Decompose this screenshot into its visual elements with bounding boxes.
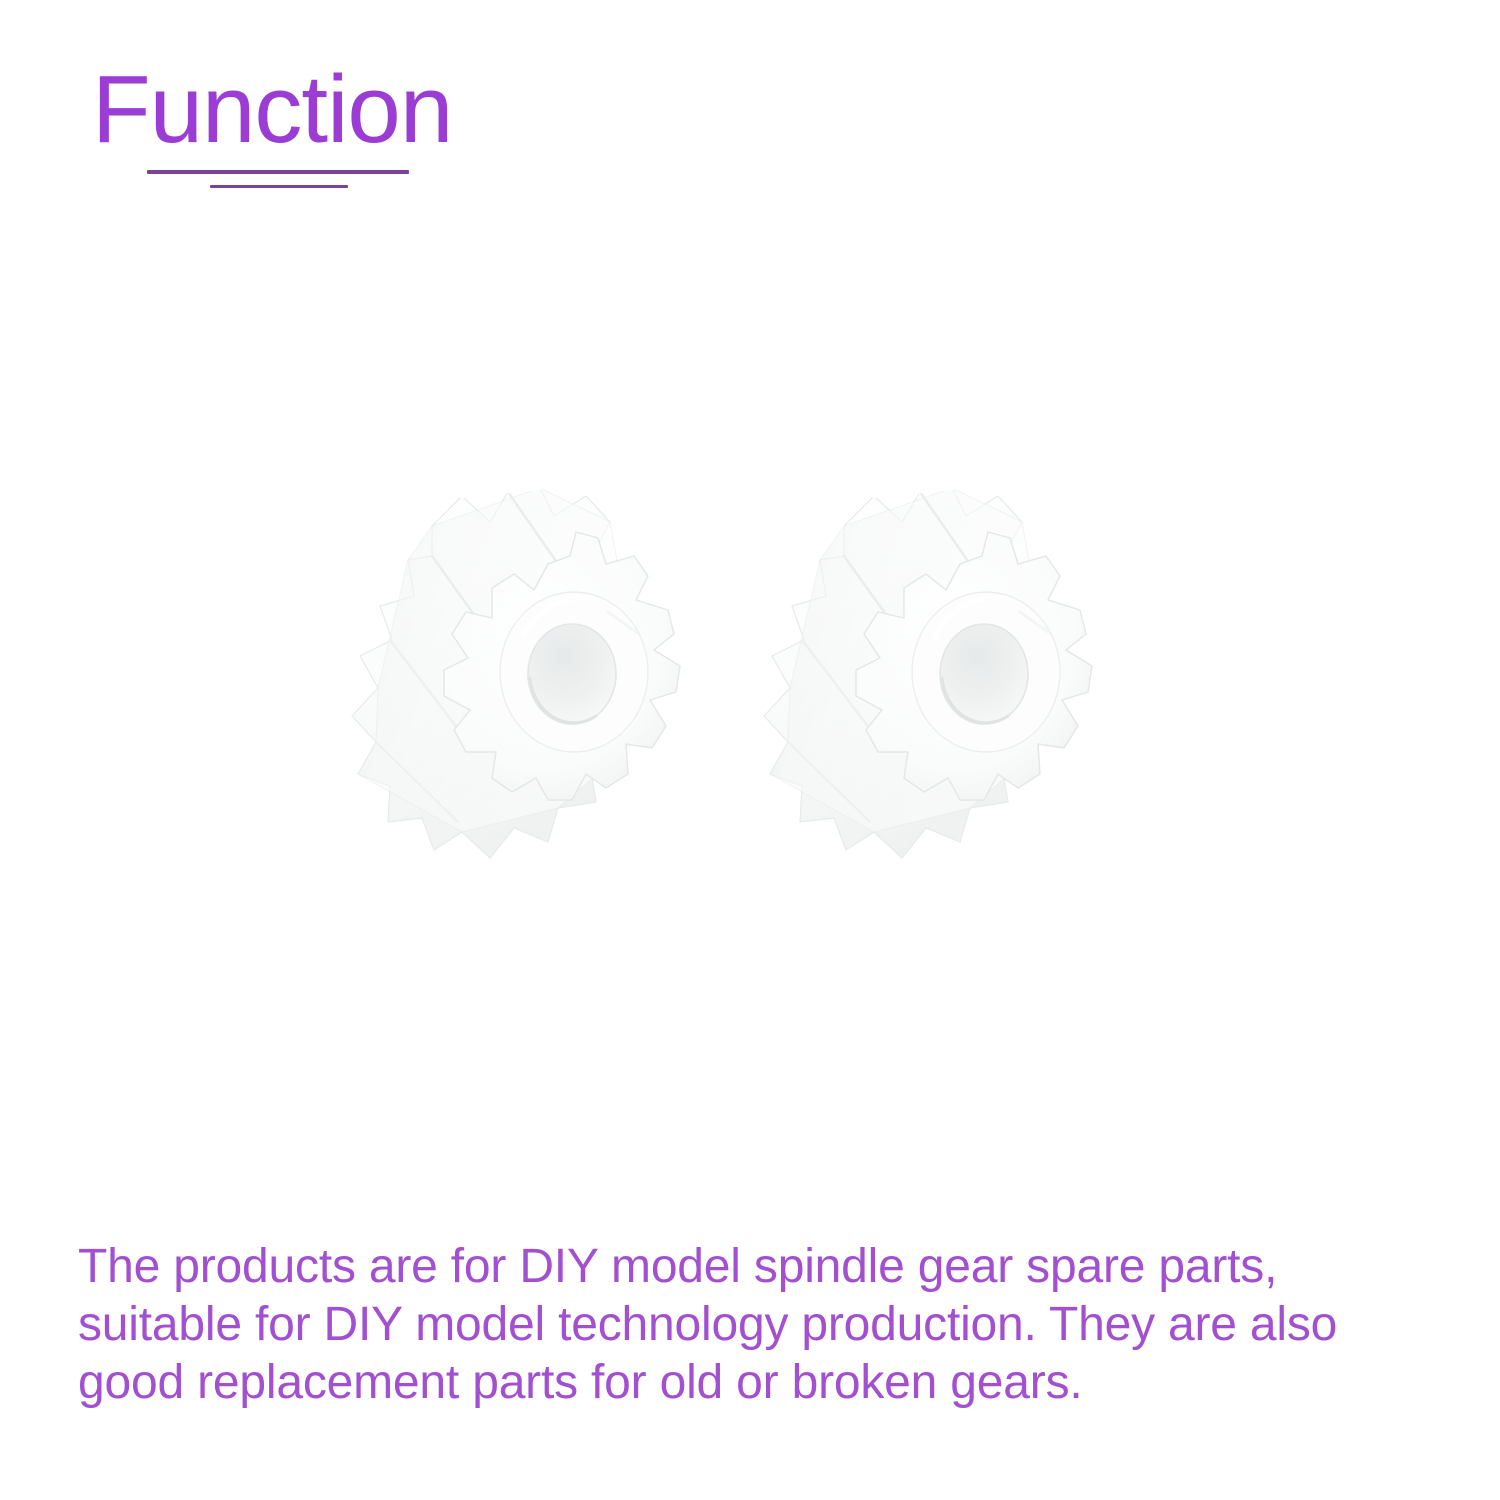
description-block: The products are for DIY model spindle g… bbox=[78, 1238, 1448, 1412]
product-image-area bbox=[0, 430, 1500, 970]
gear-center-bore bbox=[940, 624, 1028, 724]
gear-center-bore bbox=[528, 624, 616, 724]
plastic-spur-gear-left bbox=[340, 430, 760, 910]
description-text: The products are for DIY model spindle g… bbox=[78, 1238, 1448, 1412]
title-underline-short bbox=[210, 185, 348, 188]
title-underline-long bbox=[147, 170, 409, 174]
plastic-spur-gear-right bbox=[752, 430, 1172, 910]
page-title: Function bbox=[92, 62, 452, 158]
